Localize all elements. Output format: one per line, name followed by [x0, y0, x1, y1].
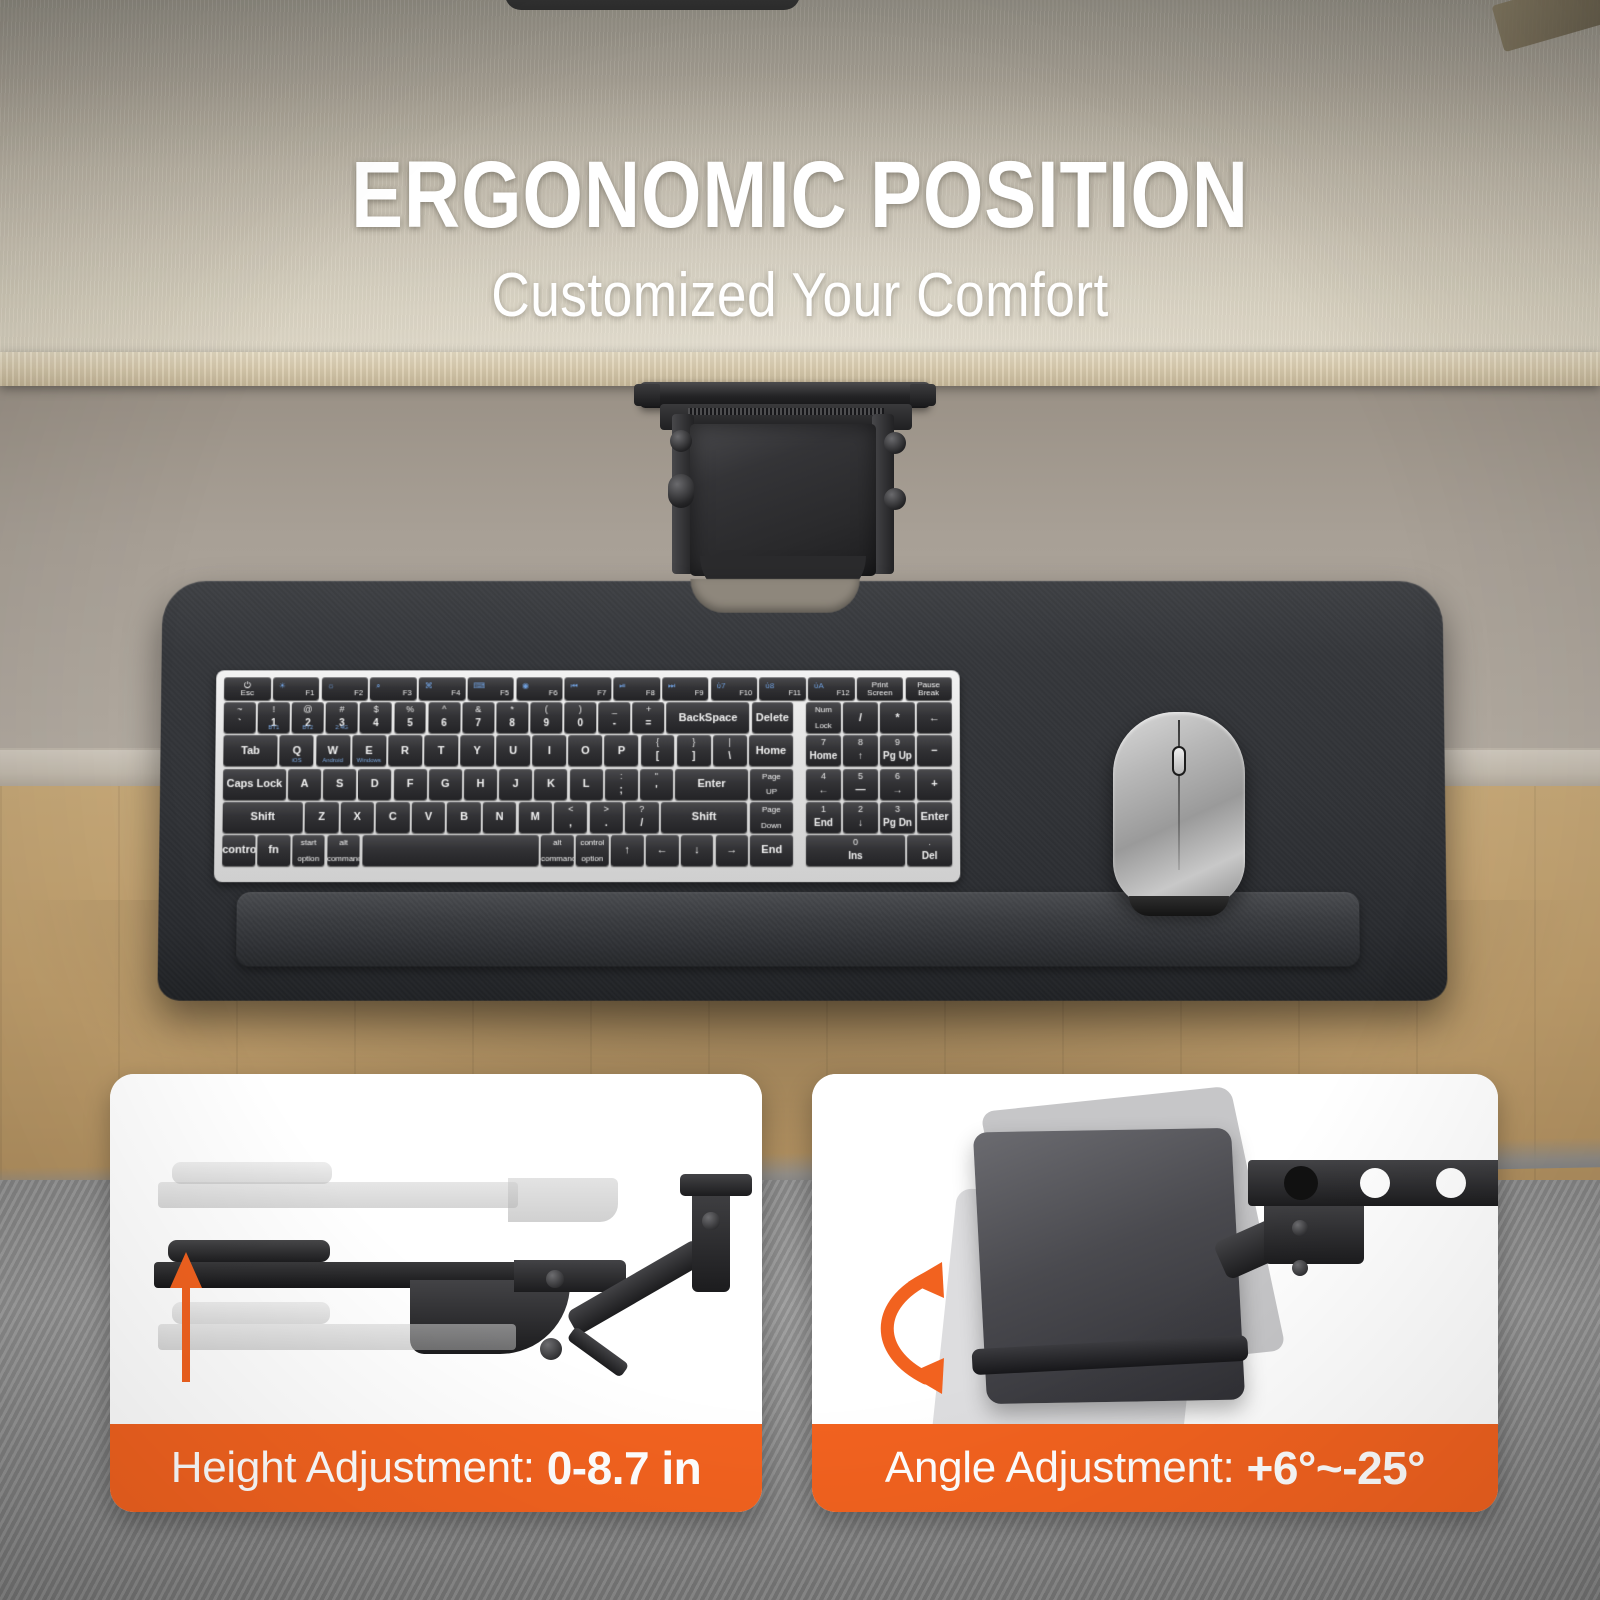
function-key-icon: ὐA [814, 681, 824, 690]
numpad-key-enter[interactable]: Enter [917, 802, 952, 833]
key-k[interactable]: K [534, 769, 567, 800]
key-alt[interactable]: altcommand [327, 835, 360, 866]
key-label-shifted: | [713, 738, 747, 747]
key-label-shifted: > [590, 805, 623, 814]
key-F5[interactable]: ⌨F5 [467, 677, 514, 700]
key-label: 0 [564, 719, 596, 729]
key-label: Delete [752, 712, 793, 723]
numpad-key--[interactable]: * [880, 702, 915, 733]
key-label: V [412, 812, 445, 823]
key--[interactable]: "' [640, 769, 673, 800]
numpad-row: 4←5—6→+ [806, 769, 952, 800]
height-adjustment-illustration [110, 1074, 762, 1424]
angle-adjustment-caption-bar: Angle Adjustment: +6°~-25° [812, 1424, 1498, 1512]
key--[interactable]: <, [554, 802, 588, 833]
key-shift[interactable]: Shift [223, 802, 303, 833]
key--[interactable]: {[ [641, 735, 675, 766]
pivot-bolt-icon [540, 1338, 562, 1360]
key-label: F6 [549, 688, 558, 697]
key-label-bottom: command [541, 854, 574, 863]
key-label: BackSpace [667, 712, 750, 723]
key-label-top: Page [750, 772, 793, 781]
key-label-shifted: ^ [428, 705, 460, 714]
key--[interactable]: += [632, 702, 664, 733]
key-label: , [554, 819, 587, 829]
key-label: ← [646, 845, 679, 856]
key--[interactable]: |\ [713, 735, 747, 766]
key-n[interactable]: N [483, 802, 517, 833]
numpad-key--[interactable]: − [917, 735, 952, 766]
key-label-shifted: # [326, 705, 358, 714]
key-p[interactable]: P [605, 735, 639, 766]
key-label: − [917, 745, 952, 756]
key-label: W [316, 745, 350, 756]
key-label: [ [641, 752, 675, 762]
key-label: F [394, 779, 427, 790]
key-label: Tab [223, 745, 277, 756]
key-label: K [534, 779, 567, 790]
up-arrow-icon [166, 1252, 206, 1382]
numpad-key--[interactable]: / [843, 702, 878, 733]
key-j[interactable]: J [499, 769, 532, 800]
key-label: ; [605, 786, 638, 796]
key-label-shifted: * [496, 705, 528, 714]
angle-adjustment-label: Angle Adjustment: [885, 1443, 1235, 1493]
key-label: ] [677, 752, 711, 762]
key-F3[interactable]: ⌕F3 [370, 677, 417, 700]
key-page[interactable]: PageUP [750, 769, 793, 800]
numpad-key-del[interactable]: .Del [907, 835, 952, 866]
keyboard-function-row: ⏻Esc☀F1☼F2⌕F3⌘F4⌨F5◉F6⏮F7⏯F8⏭F9ὐ7F10ὐ8F1… [224, 677, 952, 700]
key-7[interactable]: &7 [462, 702, 494, 733]
key-label: Esc [224, 688, 271, 697]
key-F2[interactable]: ☼F2 [321, 677, 368, 700]
key-label: I [532, 745, 566, 756]
key-F8[interactable]: ⏯F8 [613, 677, 660, 700]
key-backspace[interactable]: BackSpace [667, 702, 750, 733]
key-shift[interactable]: Shift [661, 802, 748, 833]
key-label-bottom: option [576, 854, 609, 863]
key-label-bottom: UP [750, 787, 793, 796]
key-label-top: start [292, 838, 325, 847]
key-label-shifted: 4 [806, 772, 841, 781]
scroll-wheel-icon [1172, 746, 1186, 776]
function-key-icon: ◉ [522, 681, 529, 690]
key-i[interactable]: I [532, 735, 566, 766]
key-label: Enter [675, 779, 748, 790]
numpad-key--[interactable]: 4← [806, 769, 841, 800]
key-label-shifted: + [633, 705, 665, 714]
key-label: F1 [305, 688, 314, 697]
key-label: / [625, 819, 658, 829]
key-label-secondary: 2.4G [326, 725, 358, 731]
key-label: F2 [354, 688, 363, 697]
angle-adjustment-illustration [812, 1074, 1498, 1424]
pivot-bolt-icon [702, 1212, 720, 1230]
key--[interactable]: ↓ [681, 835, 714, 866]
key-label: ↓ [843, 819, 878, 829]
key-label: T [424, 745, 458, 756]
key-label: Shift [223, 812, 303, 823]
key-label: M [518, 812, 551, 823]
pivot-bolt-icon [546, 1270, 564, 1288]
key-label: → [715, 845, 748, 856]
key-F1[interactable]: ☀F1 [273, 677, 320, 700]
tray-center-notch [690, 579, 859, 613]
key-label: E [352, 745, 386, 756]
pivot-bolt-icon [1292, 1220, 1308, 1236]
key-fn[interactable]: fn [257, 835, 290, 866]
key-label: 5 [394, 719, 426, 729]
key-label-shifted: 8 [843, 738, 878, 747]
key-label: 7 [462, 719, 494, 729]
key-label: Q [280, 745, 314, 756]
key-label-shifted: 2 [843, 805, 878, 814]
key-label: H [464, 779, 497, 790]
key-label-secondary: Windows [352, 758, 386, 764]
key-label: R [388, 745, 422, 756]
key-label: ↑ [843, 752, 878, 762]
function-key-icon: ⌘ [425, 681, 433, 690]
function-key-icon: ⏮ [571, 681, 578, 691]
key-label: U [496, 745, 530, 756]
key-label: 4 [360, 719, 392, 729]
key-label: control [222, 845, 255, 856]
key-label: Pg Up [880, 752, 915, 762]
key-label: C [376, 812, 409, 823]
key-label: \ [713, 752, 747, 762]
key-y[interactable]: Y [460, 735, 494, 766]
key-g[interactable]: G [429, 769, 462, 800]
rail-hole-icon [1284, 1166, 1318, 1200]
keyboard: ⏻Esc☀F1☼F2⌕F3⌘F4⌨F5◉F6⏮F7⏯F8⏭F9ὐ7F10ὐ8F1… [214, 670, 960, 882]
key-8[interactable]: *8 [496, 702, 528, 733]
key-4[interactable]: $4 [360, 702, 392, 733]
key-label-shifted: 3 [880, 805, 915, 814]
key-label-bottom: Lock [806, 721, 841, 730]
keyboard-alpha-block: ~`!1BT1@2BT2#32.4G$4%5^6&7*8(9)0_-+=Back… [222, 702, 793, 868]
key-label-bottom: command [327, 854, 360, 863]
key-label: . [589, 819, 622, 829]
key-Pause[interactable]: PauseBreak [905, 677, 952, 700]
rail-hole-icon [1436, 1168, 1466, 1198]
key-label: ' [640, 786, 673, 796]
key-z[interactable]: Z [305, 802, 339, 833]
key-label-shifted: 9 [880, 738, 915, 747]
key-label-bottom: Down [750, 821, 793, 830]
key-label-shifted: ! [258, 705, 290, 714]
key-delete[interactable]: Delete [752, 702, 793, 733]
key-label-shifted: ( [530, 705, 562, 714]
key--[interactable]: ← [646, 835, 679, 866]
key-label: N [483, 812, 516, 823]
key-label: P [605, 745, 639, 756]
key-label-secondary: BT1 [258, 725, 290, 731]
key--[interactable]: }] [677, 735, 711, 766]
product-marketing-image: ERGONOMIC POSITION Customized Your Comfo… [0, 0, 1600, 1600]
under-desk-mounting-bracket [0, 0, 1600, 640]
key-label: F7 [597, 688, 606, 697]
key-tab[interactable]: Tab [223, 735, 278, 766]
key-label-secondary: BT2 [292, 725, 324, 731]
mount-bolt-icon [670, 430, 692, 452]
key-label: F5 [500, 688, 509, 697]
key-label: Del [907, 852, 952, 862]
key-label: F8 [646, 688, 655, 697]
keyboard-tray: ⏻Esc☀F1☼F2⌕F3⌘F4⌨F5◉F6⏮F7⏯F8⏭F9ὐ7F10ὐ8F1… [157, 581, 1447, 1001]
key-F10[interactable]: ὐ7F10 [711, 677, 758, 700]
numpad-row: 1End2↓3Pg DnEnter [806, 802, 952, 833]
key-label: fn [257, 845, 290, 856]
mouse-base [1129, 896, 1229, 916]
key-6[interactable]: ^6 [428, 702, 460, 733]
key-label: D [358, 779, 391, 790]
key-label: Z [305, 812, 338, 823]
key-enter[interactable]: Enter [675, 769, 748, 800]
key-label: Home [806, 752, 841, 762]
key-label-shifted: @ [292, 705, 324, 714]
key--[interactable]: → [715, 835, 748, 866]
numpad-key--[interactable]: 5— [843, 769, 878, 800]
tray-arm-top-plate [680, 1174, 752, 1196]
key-label: F3 [403, 688, 412, 697]
key-label-shifted: ~ [224, 705, 256, 714]
key-label: X [341, 812, 374, 823]
key--[interactable]: ↑ [611, 835, 644, 866]
key-label-shifted: 5 [843, 772, 878, 781]
key-home[interactable]: Home [749, 735, 793, 766]
key-label: J [499, 779, 532, 790]
key-label-shifted: ? [625, 805, 658, 814]
numpad-key--[interactable]: + [917, 769, 952, 800]
tray-position-bottom [158, 1324, 516, 1350]
function-key-icon: ⌕ [376, 681, 381, 691]
numpad-key--[interactable]: ← [917, 702, 952, 733]
tilt-arm-block [1264, 1200, 1364, 1264]
key-label: = [633, 719, 665, 729]
key-label: F12 [837, 688, 850, 697]
key-label: Shift [661, 812, 748, 823]
key-page[interactable]: PageDown [750, 802, 793, 833]
key-label: 8 [496, 719, 528, 729]
mount-lever-icon [668, 474, 694, 508]
key-h[interactable]: H [464, 769, 497, 800]
numpad-row: 7Home8↑9Pg Up− [806, 735, 952, 766]
key-control[interactable]: control [222, 835, 255, 866]
key-w[interactable]: WAndroid [316, 735, 350, 766]
key-label-secondary: iOS [280, 758, 314, 764]
key-F9[interactable]: ⏭F9 [662, 677, 709, 700]
key-m[interactable]: M [518, 802, 552, 833]
key-label: / [843, 712, 878, 723]
key-label: Home [749, 745, 793, 756]
numpad-key-ins[interactable]: 0Ins [806, 835, 905, 866]
key-label: Enter [917, 812, 952, 823]
mount-rail-right-cap [910, 384, 936, 406]
mount-track-teeth [688, 408, 884, 415]
key-label: - [598, 719, 630, 729]
numpad-key-home[interactable]: 7Home [806, 735, 841, 766]
key-label: L [570, 779, 603, 790]
key-label: 6 [428, 719, 460, 729]
key-label-shifted: ) [564, 705, 596, 714]
keyboard-numpad: NumLock/*←7Home8↑9Pg Up−4←5—6→+1End2↓3Pg… [806, 702, 952, 868]
keyboard-main-area: ~`!1BT1@2BT2#32.4G$4%5^6&7*8(9)0_-+=Back… [222, 702, 952, 868]
key-label: G [429, 779, 462, 790]
function-key-icon: ☀ [279, 681, 286, 690]
numpad-row: 0Ins.Del [806, 835, 952, 866]
height-adjustment-caption-bar: Height Adjustment: 0-8.7 in [110, 1424, 762, 1512]
key-label: — [843, 786, 878, 796]
key-label: Pg Dn [880, 819, 915, 829]
mount-bolt-icon [884, 432, 906, 454]
key-5[interactable]: %5 [394, 702, 426, 733]
mouse-button-split [1178, 720, 1180, 870]
key-start[interactable]: startoption [292, 835, 325, 866]
key-label: O [568, 745, 602, 756]
numpad-key-num[interactable]: NumLock [806, 702, 841, 733]
key-o[interactable]: O [568, 735, 602, 766]
function-key-icon: ⏭ [668, 681, 675, 691]
key-3[interactable]: #32.4G [326, 702, 358, 733]
keyboard-gap [798, 702, 801, 868]
key-label-shifted: { [641, 738, 675, 747]
key-a[interactable]: A [288, 769, 321, 800]
wireless-mouse [1113, 712, 1245, 908]
key--[interactable]: _- [598, 702, 630, 733]
key-r[interactable]: R [388, 735, 422, 766]
numpad-key--[interactable]: 2↓ [843, 802, 878, 833]
key-c[interactable]: C [376, 802, 410, 833]
key-F6[interactable]: ◉F6 [516, 677, 563, 700]
key-label: + [917, 779, 952, 790]
key-Print[interactable]: PrintScreen [857, 677, 904, 700]
pivot-bolt-icon [1292, 1260, 1308, 1276]
keyboard-qwerty-row: TabQiOSWAndroidEWindowsRTYUIOP{[}]|\Home [223, 735, 793, 766]
rail-hole-icon [1360, 1168, 1390, 1198]
key--[interactable]: ?/ [625, 802, 658, 833]
key-label: Y [460, 745, 494, 756]
numpad-key--[interactable]: 8↑ [843, 735, 878, 766]
key-2[interactable]: @2BT2 [292, 702, 324, 733]
key-label: End [806, 819, 841, 829]
tray-position-top-bracket [508, 1178, 618, 1222]
numpad-key--[interactable]: 6→ [880, 769, 915, 800]
key-u[interactable]: U [496, 735, 530, 766]
function-key-icon: ☼ [327, 681, 334, 690]
key-f[interactable]: F [393, 769, 426, 800]
numpad-key-end[interactable]: 1End [806, 802, 841, 833]
key-v[interactable]: V [412, 802, 446, 833]
key-label-shifted: 0 [806, 838, 905, 847]
key-F11[interactable]: ὐ8F11 [759, 677, 805, 700]
key-label-shifted: _ [599, 705, 631, 714]
key-label: ← [806, 786, 841, 796]
key-label: → [880, 786, 915, 796]
key-label-shifted: 6 [880, 772, 915, 781]
key-F12[interactable]: ὐAF12 [808, 677, 854, 700]
key-caps-lock[interactable]: Caps Lock [223, 769, 286, 800]
height-adjustment-label: Height Adjustment: [171, 1443, 535, 1493]
key-label: Caps Lock [223, 779, 286, 790]
key-label: ` [224, 719, 256, 729]
key-label-shifted: : [605, 772, 638, 781]
numpad-key-pg-dn[interactable]: 3Pg Dn [880, 802, 915, 833]
feature-card-height-adjustment: Height Adjustment: 0-8.7 in [110, 1074, 762, 1512]
key--[interactable]: :; [605, 769, 638, 800]
function-key-icon: ⌨ [473, 681, 485, 690]
key-0[interactable]: )0 [564, 702, 596, 733]
key-control[interactable]: controloption [576, 835, 609, 866]
key-x[interactable]: X [340, 802, 374, 833]
key--[interactable]: >. [589, 802, 622, 833]
keyboard-shift-row: ShiftZXCVBNM<,>.?/ShiftPageDown [223, 802, 793, 833]
key-label: ← [917, 712, 952, 723]
mount-bolt-icon [884, 488, 906, 510]
key-label: S [323, 779, 356, 790]
key-b[interactable]: B [447, 802, 481, 833]
key-label: End [750, 845, 793, 856]
key-label-shifted: % [394, 705, 426, 714]
release-lever-icon [567, 1326, 630, 1378]
key-label: 9 [530, 719, 562, 729]
key-1[interactable]: !1BT1 [258, 702, 290, 733]
key-label: * [880, 712, 915, 723]
key-label-shifted: < [554, 805, 587, 814]
key-d[interactable]: D [358, 769, 391, 800]
key--[interactable]: ~` [224, 702, 256, 733]
key-label-shifted: . [907, 838, 952, 847]
key-k4[interactable] [362, 835, 539, 866]
key-label-top: alt [541, 838, 574, 847]
height-adjustment-value: 0-8.7 in [547, 1441, 702, 1495]
mount-rail-left-cap [634, 384, 660, 406]
key-label: B [447, 812, 480, 823]
tray-arm-upright [692, 1182, 730, 1292]
keyboard-bottom-row: controlfnstartoptionaltcommandaltcommand… [222, 835, 793, 866]
key-label: Ins [806, 852, 905, 862]
keyboard-home-row: Caps LockASDFGHJKL:;"'EnterPageUP [223, 769, 793, 800]
key-q[interactable]: QiOS [280, 735, 314, 766]
key-label-bottom: Screen [857, 688, 903, 697]
key-t[interactable]: T [424, 735, 458, 766]
key-9[interactable]: (9 [530, 702, 562, 733]
key-l[interactable]: L [570, 769, 603, 800]
key-label: ↑ [611, 845, 644, 856]
key-Esc[interactable]: ⏻Esc [224, 677, 271, 700]
key-label: F9 [695, 688, 704, 697]
angle-adjustment-value: +6°~-25° [1246, 1441, 1425, 1495]
key-label: F4 [451, 688, 460, 697]
key-s[interactable]: S [323, 769, 356, 800]
key-F4[interactable]: ⌘F4 [419, 677, 466, 700]
keyboard-number-row: ~`!1BT1@2BT2#32.4G$4%5^6&7*8(9)0_-+=Back… [224, 702, 793, 733]
key-end[interactable]: End [750, 835, 793, 866]
key-label: ↓ [681, 845, 714, 856]
key-label: A [288, 779, 321, 790]
mount-body [690, 424, 876, 576]
key-label-shifted: } [677, 738, 711, 747]
key-label: F10 [739, 688, 752, 697]
key-label-top: alt [327, 838, 360, 847]
function-key-icon: ⏯ [619, 681, 625, 691]
key-e[interactable]: EWindows [352, 735, 386, 766]
feature-card-angle-adjustment: Angle Adjustment: +6°~-25° [812, 1074, 1498, 1512]
key-alt[interactable]: altcommand [541, 835, 574, 866]
key-F7[interactable]: ⏮F7 [565, 677, 612, 700]
numpad-key-pg-up[interactable]: 9Pg Up [880, 735, 915, 766]
function-key-icon: ὐ8 [765, 681, 774, 690]
